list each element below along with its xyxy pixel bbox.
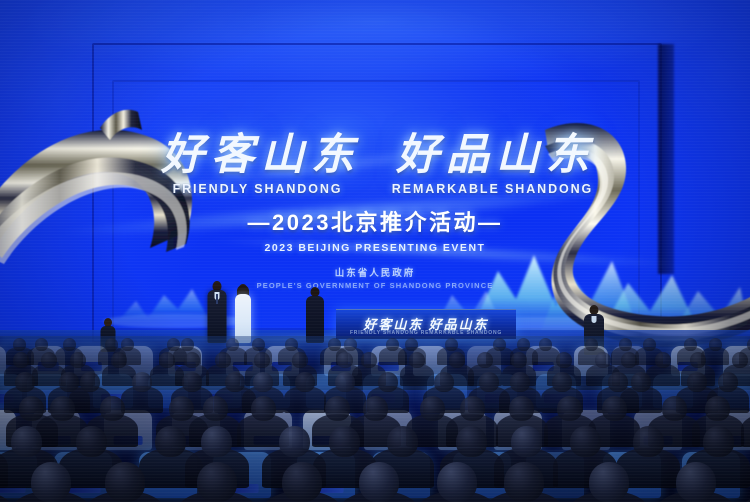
audience-head: [633, 426, 664, 457]
stage-person-speaker-center: [305, 287, 325, 343]
audience-head: [335, 372, 355, 392]
audience-head: [662, 396, 687, 421]
audience-head: [504, 462, 544, 502]
audience-head: [111, 352, 127, 368]
audience-head: [517, 338, 530, 351]
audience-head: [655, 352, 671, 368]
headline-row: 好客山东 FRIENDLY SHANDONG 好品山东 REMARKABLE S…: [0, 133, 750, 196]
audience-head: [159, 352, 175, 368]
audience-head: [329, 426, 360, 457]
event-subtitle-block: —2023北京推介活动— 2023 BEIJING PRESENTING EVE…: [0, 205, 750, 254]
headline-left-chinese: 好客山东: [154, 133, 361, 178]
audience-head: [570, 426, 601, 457]
audience-head: [292, 352, 308, 368]
audience-head: [337, 352, 353, 368]
person-tie: [216, 294, 218, 304]
audience-head: [11, 426, 42, 457]
audience-head: [169, 396, 194, 421]
audience-head: [690, 352, 706, 368]
audience-head: [155, 426, 186, 457]
event-subtitle-chinese: —2023北京推介活动—: [0, 205, 750, 237]
audience-head: [251, 396, 276, 421]
audience-head: [35, 338, 48, 351]
audience-head: [437, 462, 477, 502]
audience-head: [509, 396, 534, 421]
audience-head: [718, 372, 738, 392]
audience-head: [344, 338, 357, 351]
backdrop-headline-block: 好客山东 FRIENDLY SHANDONG 好品山东 REMARKABLE S…: [0, 0, 750, 360]
headline-left-english: FRIENDLY SHANDONG: [154, 182, 361, 196]
audience-head: [361, 352, 377, 368]
audience-head: [80, 372, 100, 392]
audience-head: [13, 338, 26, 351]
audience-head: [434, 372, 454, 392]
audience-head: [493, 338, 506, 351]
audience-head: [405, 338, 418, 351]
audience-head: [510, 372, 530, 392]
audience-head: [15, 372, 35, 392]
audience-head: [703, 426, 734, 457]
headline-left: 好客山东 FRIENDLY SHANDONG: [154, 133, 361, 196]
audience-head: [557, 396, 582, 421]
audience-head: [589, 462, 629, 502]
audience-head: [197, 462, 237, 502]
audience-head: [386, 338, 399, 351]
audience-head: [409, 352, 425, 368]
audience-head: [254, 352, 270, 368]
audience-head: [19, 396, 44, 421]
organizer-english: PEOPLE'S GOVERNMENT OF SHANDONG PROVINCE: [0, 281, 750, 290]
audience-head: [182, 372, 202, 392]
event-stage-photograph: 好客山东 FRIENDLY SHANDONG 好品山东 REMARKABLE S…: [0, 0, 750, 502]
audience-head: [595, 352, 611, 368]
audience-head: [76, 426, 107, 457]
audience-head: [676, 462, 716, 502]
audience-head: [556, 352, 572, 368]
event-subtitle-english: 2023 BEIJING PRESENTING EVENT: [0, 242, 750, 254]
audience-head: [252, 338, 265, 351]
audience-head: [631, 372, 651, 392]
audience-head: [63, 338, 76, 351]
audience-head: [359, 462, 399, 502]
audience-head: [705, 396, 730, 421]
podium-banner: 好客山东 好品山东 FRIENDLY SHANDONG REMARKABLE S…: [336, 309, 516, 339]
audience-head: [363, 396, 388, 421]
audience-head: [479, 372, 499, 392]
audience-head: [709, 338, 722, 351]
audience-head: [477, 352, 493, 368]
audience-area: [0, 336, 750, 502]
audience-head: [31, 462, 71, 502]
audience-member: [740, 491, 750, 502]
audience-head: [70, 352, 86, 368]
audience-head: [460, 396, 485, 421]
audience-head: [285, 338, 298, 351]
audience-head: [420, 396, 445, 421]
audience-head: [732, 352, 748, 368]
audience-head: [100, 396, 125, 421]
stage-person-host-female: [232, 284, 254, 343]
audience-head: [387, 426, 418, 457]
audience-head: [621, 352, 637, 368]
audience-head: [121, 338, 134, 351]
headline-right: 好品山东 REMARKABLE SHANDONG: [389, 133, 596, 196]
audience-head: [132, 372, 152, 392]
audience-head: [585, 338, 598, 351]
audience-head: [50, 396, 75, 421]
audience-head: [511, 352, 527, 368]
audience-head: [643, 338, 656, 351]
audience-head: [552, 372, 572, 392]
stage-person-host-male: [206, 281, 228, 343]
audience-head: [215, 352, 231, 368]
audience-head: [41, 352, 57, 368]
audience-head: [105, 462, 145, 502]
audience-head: [225, 372, 245, 392]
audience-head: [602, 396, 627, 421]
audience-head: [226, 338, 239, 351]
person-shirt: [592, 316, 597, 323]
headline-right-chinese: 好品山东: [389, 133, 596, 178]
audience-head: [378, 372, 398, 392]
audience-head: [687, 372, 707, 392]
audience-head: [282, 462, 322, 502]
audience-head: [445, 338, 458, 351]
audience-head: [295, 372, 315, 392]
audience-head: [253, 372, 273, 392]
audience-head: [13, 352, 29, 368]
audience-head: [511, 426, 542, 457]
organizer-block: 山东省人民政府 PEOPLE'S GOVERNMENT OF SHANDONG …: [0, 265, 750, 290]
audience-head: [203, 396, 228, 421]
audience-head: [181, 338, 194, 351]
audience-head: [456, 426, 487, 457]
audience-head: [184, 352, 200, 368]
audience-head: [279, 426, 310, 457]
headline-right-english: REMARKABLE SHANDONG: [389, 182, 596, 196]
audience-head: [449, 352, 465, 368]
audience-head: [619, 338, 632, 351]
audience-head: [325, 396, 350, 421]
audience-head: [684, 338, 697, 351]
audience-head: [201, 426, 232, 457]
audience-head: [539, 338, 552, 351]
organizer-chinese: 山东省人民政府: [0, 265, 750, 279]
